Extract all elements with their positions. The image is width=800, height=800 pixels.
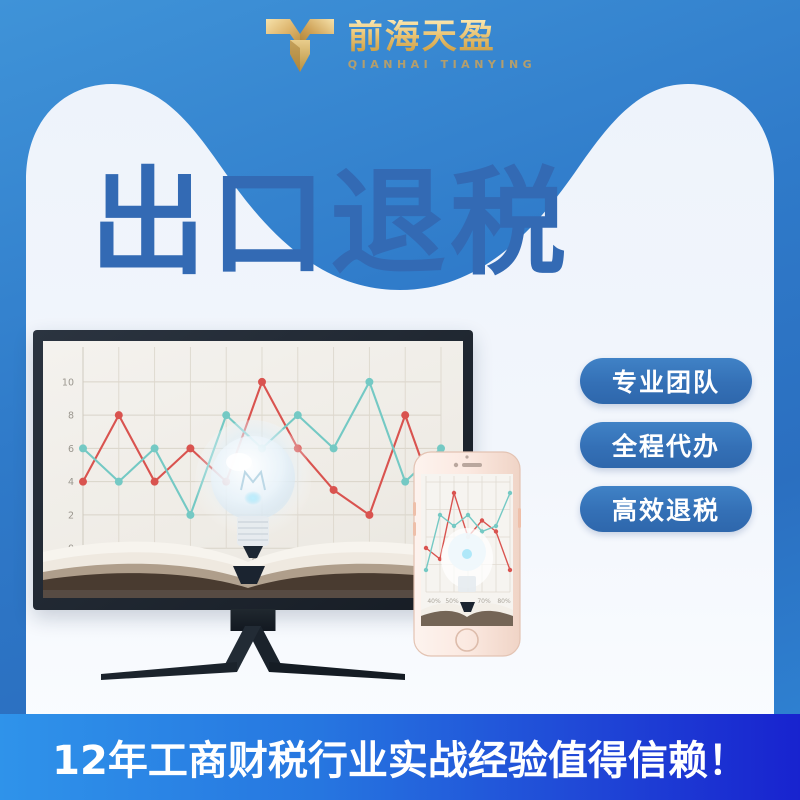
brand-name-cn: 前海天盈 <box>348 20 536 55</box>
svg-text:8: 8 <box>68 411 74 422</box>
badge-professional-team[interactable]: 专业团队 <box>580 358 752 404</box>
svg-text:40%: 40% <box>427 598 441 605</box>
smartphone: 40%50%70%80% <box>412 450 522 658</box>
monitor-stand-legs <box>33 626 473 680</box>
svg-text:6: 6 <box>68 444 74 455</box>
svg-text:80%: 80% <box>497 598 511 605</box>
svg-text:4: 4 <box>68 477 74 488</box>
desktop-monitor: 0246810 10%20%30%40%50%60%70%80%90%100% <box>33 330 473 660</box>
poster-root: 前海天盈 QIANHAI TIANYING 出口退税 0246810 10%20… <box>0 0 800 800</box>
feature-badges: 专业团队 全程代办 高效退税 <box>580 358 752 532</box>
trifold-t-logo-icon <box>264 14 336 76</box>
monitor-screen: 0246810 10%20%30%40%50%60%70%80%90%100% <box>43 341 463 598</box>
badge-full-service[interactable]: 全程代办 <box>580 422 752 468</box>
banner-text: 12年工商财税行业实战经验值得信赖！ <box>52 728 748 786</box>
monitor-bezel: 0246810 10%20%30%40%50%60%70%80%90%100% <box>33 330 473 610</box>
svg-text:10: 10 <box>62 377 74 388</box>
badge-efficient-rebate[interactable]: 高效退税 <box>580 486 752 532</box>
page-title: 出口退税 <box>90 160 570 288</box>
brand-logo: 前海天盈 QIANHAI TIANYING <box>0 14 800 76</box>
svg-text:2: 2 <box>68 510 74 521</box>
bottom-banner: 12年工商财税行业实战经验值得信赖！ <box>0 714 800 800</box>
glowing-light-bulb <box>193 420 313 570</box>
brand-name-en: QIANHAI TIANYING <box>348 59 536 70</box>
